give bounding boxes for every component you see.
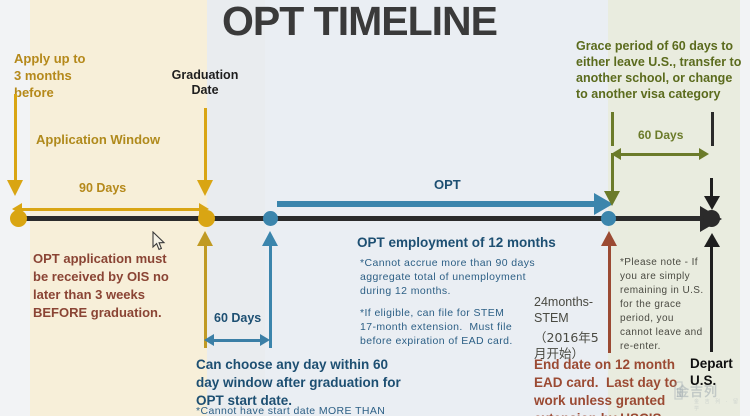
timeline-node-apply-start	[10, 210, 27, 227]
grad-up-arrow-head	[197, 231, 213, 246]
depart-up-arrow-head	[704, 233, 720, 247]
apply-before-note: Apply up to 3 months before	[14, 50, 86, 101]
sixty-days-window-shaft	[212, 339, 266, 342]
grace-period-note: *Please note - If you are simply remaini…	[620, 256, 704, 354]
grace-period-headline: Grace period of 60 days to either leave …	[576, 38, 741, 102]
depart-up-arrow-shaft	[710, 246, 713, 352]
band-graduation-gap	[207, 0, 265, 416]
opt-start-up-arrow-shaft	[269, 245, 272, 348]
graduation-arrow-head	[197, 180, 213, 196]
grace-measure-left-tick	[611, 112, 614, 146]
depart-down-arrow-head	[704, 196, 720, 210]
grace-sixty-days-label: 60 Days	[638, 128, 683, 142]
stem-line-1: 24months-	[534, 295, 593, 309]
watermark-subtext: 金 吉 列 · 留 学	[694, 398, 750, 412]
timeline-node-opt-start	[263, 211, 278, 226]
sixty-days-window-right-head	[260, 334, 270, 346]
timeline-node-depart	[703, 210, 720, 227]
grad-up-arrow-shaft	[204, 245, 207, 348]
graduation-arrow-shaft	[204, 108, 207, 182]
opt-start-up-arrow-head	[262, 231, 278, 246]
opt-period-arrow-shaft	[277, 201, 597, 207]
end-date-note: End date on 12 month EAD card. Last day …	[534, 356, 677, 416]
opt-employment-note-unemployment: *Cannot accrue more than 90 days aggrega…	[360, 256, 535, 298]
depart-label-line-1: Depart	[690, 356, 733, 371]
mouse-cursor-icon	[152, 231, 166, 251]
page-title: OPT TIMELINE	[222, 0, 497, 45]
application-window-label: Application Window	[36, 132, 160, 147]
grace-start-arrow-shaft	[611, 153, 614, 193]
sixty-day-window-headline: Can choose any day within 60 day window …	[196, 356, 401, 410]
apply-start-arrow-head	[7, 180, 23, 196]
sixty-days-window-left-head	[204, 334, 214, 346]
opt-bar-label: OPT	[434, 177, 461, 192]
grace-measure-right-tick	[711, 112, 714, 146]
opt-end-up-arrow-head	[601, 231, 617, 246]
opt-employment-headline: OPT employment of 12 months	[357, 235, 556, 250]
grace-measure-shaft	[619, 153, 705, 156]
stem-line-2: STEM	[534, 311, 569, 325]
opt-application-deadline-note: OPT application must be received by OIS …	[33, 250, 169, 322]
ninety-days-label: 90 Days	[79, 181, 126, 195]
graduation-date-label: Graduation Date	[165, 68, 245, 98]
opt-employment-note-stem: *If eligible, can file for STEM 17-month…	[360, 306, 513, 348]
grace-start-arrow-head	[604, 191, 620, 206]
depart-down-arrow-shaft	[710, 178, 713, 198]
apply-start-arrow-shaft	[14, 94, 17, 182]
grace-measure-right-head	[699, 148, 709, 160]
ninety-days-measure-shaft	[20, 208, 205, 211]
band-right-margin	[740, 0, 750, 416]
sixty-days-window-label: 60 Days	[214, 311, 261, 325]
timeline-node-graduation	[198, 210, 215, 227]
opt-timeline-infographic: OPT TIMELINE Apply up to 3 months before…	[0, 0, 750, 416]
sixty-day-window-footnote: *Cannot have start date MORE THAN	[196, 405, 385, 416]
opt-end-up-arrow-shaft	[608, 245, 611, 353]
watermark-faint-left	[40, 398, 44, 411]
